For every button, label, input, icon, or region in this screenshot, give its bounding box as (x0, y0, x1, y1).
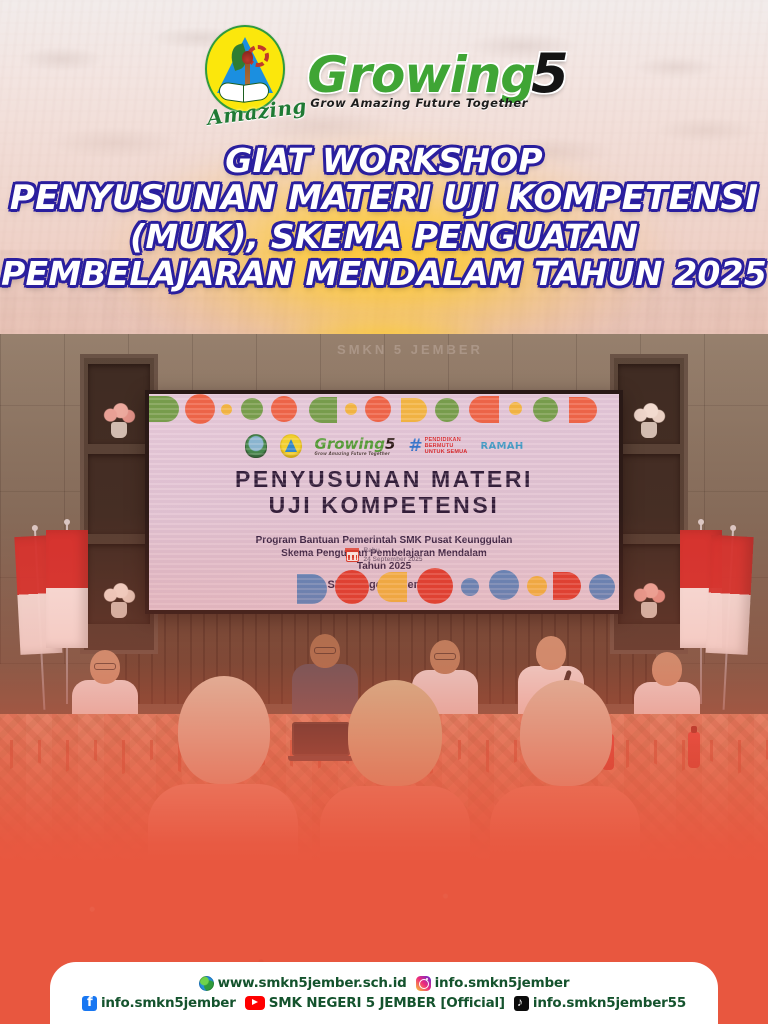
flower-vase (102, 583, 136, 618)
footer-instagram[interactable]: info.smkn5jember (416, 975, 570, 991)
footer-youtube-text: SMK NEGERI 5 JEMBER [Official] (269, 995, 505, 1011)
audience-member (348, 680, 470, 864)
crest-flame-icon (242, 51, 253, 64)
merdeka-belajar-hash-icon: # PENDIDIKAN BERMUTU UNTUK SEMUA (408, 436, 467, 456)
brand-name-black: 5 (531, 48, 569, 99)
slide-date-text: Rabu 24 September 2025 (364, 547, 423, 564)
event-photograph: SMKN 5 JEMBER (0, 334, 768, 864)
crest-book-icon (219, 83, 269, 99)
wall-sign-text: SMKN 5 JEMBER (300, 342, 520, 357)
footer-tiktok-text: info.smkn5jember55 (533, 995, 686, 1011)
footer-website-text: www.smkn5jember.sch.id (218, 975, 407, 991)
shelf-cubby (88, 544, 150, 624)
smkn5-amazing-crest-icon (280, 434, 302, 458)
globe-icon (199, 976, 214, 991)
footer-website[interactable]: www.smkn5jember.sch.id (199, 975, 407, 991)
audience-member (520, 680, 640, 864)
flower-vase (632, 403, 666, 438)
poster-header: Amazing Growing 5 Grow Amazing Future To… (0, 22, 768, 132)
presentation-slide: Growing5 Grow Amazing Future Together # … (149, 394, 619, 610)
slide-date: Rabu 24 September 2025 (149, 547, 619, 564)
footer-row-1: www.smkn5jember.sch.id info.smkn5jember (199, 975, 570, 991)
facebook-icon (82, 996, 97, 1011)
shelf-cubby (88, 364, 150, 444)
shelf-cubby (88, 454, 150, 534)
headline-line-3: (MUK), SKEMA PENGUATAN (0, 220, 768, 254)
shelf-cubby (618, 364, 680, 444)
flower-vase (102, 403, 136, 438)
footer-instagram-text: info.smkn5jember (435, 975, 570, 991)
school-crest-icon: Amazing (199, 23, 291, 131)
footer-tiktok[interactable]: info.smkn5jember55 (514, 995, 686, 1011)
slide-decoration-top (149, 394, 619, 428)
footer-youtube[interactable]: SMK NEGERI 5 JEMBER [Official] (245, 995, 505, 1011)
growing5-logo: Growing5 Grow Amazing Future Together (315, 437, 396, 456)
slide-date-day: Rabu (364, 547, 380, 554)
footer-facebook[interactable]: info.smkn5jember (82, 995, 236, 1011)
jember-regency-crest-icon (245, 434, 267, 458)
flower-vase (632, 583, 666, 618)
instagram-icon (416, 976, 431, 991)
headline-line-2: PENYUSUNAN MATERI UJI KOMPETENSI (0, 181, 768, 216)
poster-footer: www.smkn5jember.sch.id info.smkn5jember … (50, 962, 718, 1024)
slide-title: PENYUSUNAN MATERI UJI KOMPETENSI (149, 466, 619, 518)
calendar-icon (346, 549, 359, 562)
slide-sub-line-1: Program Bantuan Pemerintah SMK Pusat Keu… (149, 534, 619, 547)
slide-title-line-1: PENYUSUNAN MATERI (149, 466, 619, 492)
tiktok-icon (514, 996, 529, 1011)
projector-screen: Growing5 Grow Amazing Future Together # … (145, 390, 623, 614)
headline-line-1: GIAT WORKSHOP (0, 144, 768, 178)
slide-logo-row: Growing5 Grow Amazing Future Together # … (149, 434, 619, 458)
headline-line-4: PEMBELAJARAN MENDALAM TAHUN 2025 (0, 257, 768, 291)
laptop (292, 722, 354, 762)
shelf-cubby (618, 544, 680, 624)
shelf-cubby (618, 454, 680, 534)
youtube-icon (245, 996, 265, 1010)
ramah-logo: RAMAH (480, 441, 523, 452)
footer-facebook-text: info.smkn5jember (101, 995, 236, 1011)
poster-headline: GIAT WORKSHOP PENYUSUNAN MATERI UJI KOMP… (0, 144, 768, 291)
brand-name-green: Growing (307, 52, 535, 100)
audience-member (178, 676, 298, 864)
growing5-brand: Growing 5 Grow Amazing Future Together (307, 44, 568, 109)
slide-date-full: 24 September 2025 (364, 556, 423, 563)
slide-decoration-bottom (149, 564, 619, 610)
footer-row-2: info.smkn5jember SMK NEGERI 5 JEMBER [Of… (82, 995, 686, 1011)
drink-bottle (688, 732, 700, 768)
brand-wordmark-row: Growing 5 (307, 48, 568, 99)
poster-root: Amazing Growing 5 Grow Amazing Future To… (0, 0, 768, 1024)
slide-title-line-2: UJI KOMPETENSI (149, 492, 619, 518)
